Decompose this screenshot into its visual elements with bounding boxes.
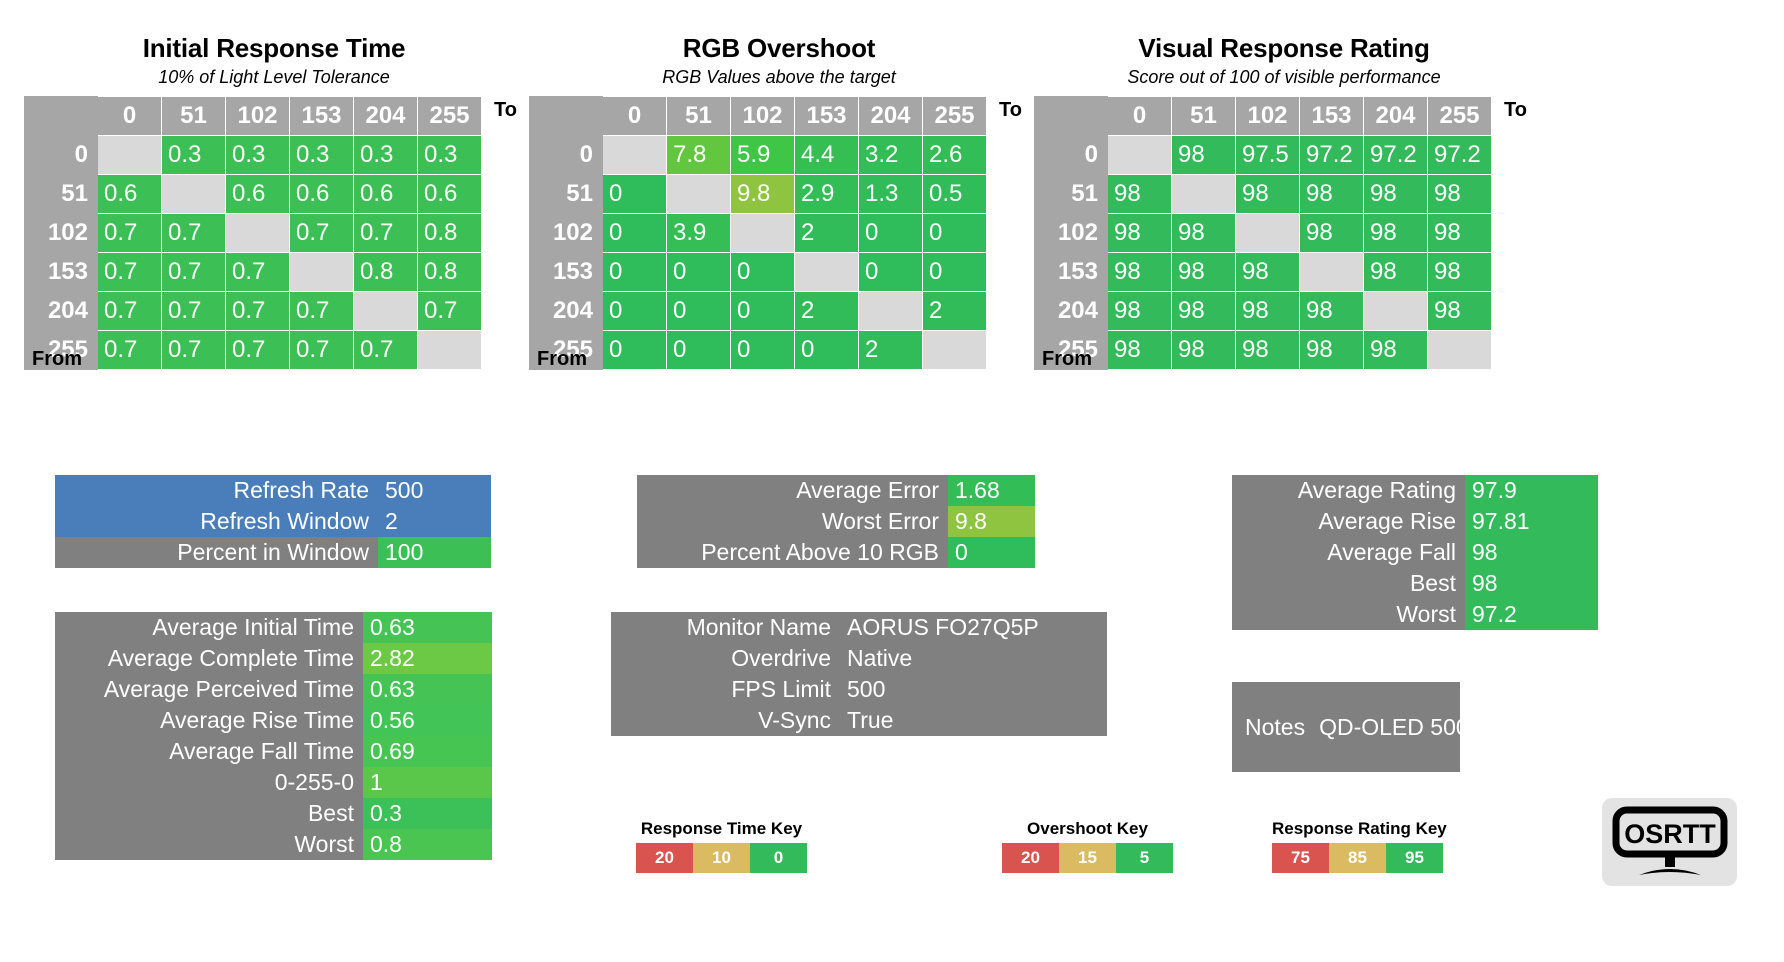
matrix-cell: 98: [1108, 175, 1172, 214]
notes-label: Notes: [1232, 714, 1305, 741]
matrix-cell: 0.7: [226, 253, 290, 292]
stat-label: Average Fall: [1232, 537, 1465, 568]
matrix-cell: 98: [1364, 175, 1428, 214]
matrix-cell: 0.7: [226, 292, 290, 331]
matrix-cell-blank: [667, 175, 731, 214]
stat-label: Worst Error: [637, 506, 948, 537]
stat-label: Average Rise: [1232, 506, 1465, 537]
matrix-col-header: 0: [603, 97, 667, 136]
matrix-cell: 0: [603, 253, 667, 292]
table-row: 1539898989898: [1035, 253, 1492, 292]
to-label-3: To: [1504, 99, 1527, 122]
matrix-col-header: 255: [923, 97, 987, 136]
matrix-cell: 0: [667, 331, 731, 370]
matrix-cell: 0.6: [418, 175, 482, 214]
matrix-cell: 0.3: [418, 136, 482, 175]
chart-subtitle: Score out of 100 of visible performance: [1034, 68, 1534, 88]
matrix-cell: 0.3: [354, 136, 418, 175]
matrix-cell-blank: [795, 253, 859, 292]
matrix-cell: 1.3: [859, 175, 923, 214]
matrix-cell: 0.8: [418, 253, 482, 292]
matrix-cell-blank: [1428, 331, 1492, 370]
matrix-cell: 0.7: [98, 292, 162, 331]
stat-value: 98: [1465, 537, 1598, 568]
chart-title: Visual Response Rating: [1034, 34, 1534, 63]
matrix-cell: 3.2: [859, 136, 923, 175]
matrix-cell-blank: [290, 253, 354, 292]
table-row: 519898989898: [1035, 175, 1492, 214]
matrix-cell: 0.7: [162, 214, 226, 253]
matrix-col-header: 51: [667, 97, 731, 136]
to-label-1: To: [494, 99, 517, 122]
matrix-cell: 98: [1236, 175, 1300, 214]
stat-label: 0-255-0: [55, 767, 363, 798]
stat-row: Best98: [1232, 568, 1598, 599]
matrix-cell: 98: [1300, 331, 1364, 370]
matrix-cell: 98: [1108, 331, 1172, 370]
matrix-row-header: 102: [1035, 214, 1108, 253]
stat-label: Average Error: [637, 475, 948, 506]
key-cell: 5: [1116, 843, 1173, 873]
table-row: 5109.82.91.30.5: [530, 175, 987, 214]
matrix-cell: 0: [859, 253, 923, 292]
matrix-cell: 0: [859, 214, 923, 253]
matrix-cell-blank: [354, 292, 418, 331]
stat-value: 2: [378, 506, 491, 537]
matrix-cell: 0.7: [162, 253, 226, 292]
response-time-key: Response Time Key20100: [636, 819, 807, 873]
stat-label: Percent Above 10 RGB: [637, 537, 948, 568]
matrix-cell: 98: [1236, 292, 1300, 331]
matrix-cell: 98: [1300, 292, 1364, 331]
matrix-cell: 98: [1172, 214, 1236, 253]
matrix-cell: 0.3: [226, 136, 290, 175]
matrix-col-header: 204: [354, 97, 418, 136]
matrix-col-header: 51: [1172, 97, 1236, 136]
stat-value: 98: [1465, 568, 1598, 599]
matrix-cell: 0: [603, 331, 667, 370]
stat-row: Average Rise Time0.56: [55, 705, 492, 736]
matrix-cell: 0.7: [162, 292, 226, 331]
key-bar: 20100: [636, 843, 807, 873]
key-title: Response Rating Key: [1272, 819, 1447, 839]
matrix-corner: [1035, 97, 1108, 136]
matrix-col-header: 102: [731, 97, 795, 136]
matrix-cell-blank: [603, 136, 667, 175]
matrix-cell: 98: [1364, 214, 1428, 253]
matrix-cell: 0.6: [226, 175, 290, 214]
matrix-cell: 0.7: [354, 214, 418, 253]
matrix-col-header: 0: [1108, 97, 1172, 136]
matrix-cell: 97.5: [1236, 136, 1300, 175]
stat-label: Average Complete Time: [55, 643, 363, 674]
matrix-cell: 0: [603, 292, 667, 331]
stat-row: Average Error1.68: [637, 475, 1035, 506]
matrix-cell: 9.8: [731, 175, 795, 214]
stat-row: V-SyncTrue: [611, 705, 1107, 736]
table-row: 25500002: [530, 331, 987, 370]
matrix-row-header: 0: [25, 136, 98, 175]
stat-label: Refresh Rate: [55, 475, 378, 506]
matrix-row-header: 153: [530, 253, 603, 292]
matrix-cell-blank: [1300, 253, 1364, 292]
matrix-cell: 2: [859, 331, 923, 370]
matrix-row-header: 102: [25, 214, 98, 253]
matrix-cell: 0.6: [290, 175, 354, 214]
chart-subtitle: 10% of Light Level Tolerance: [24, 68, 524, 88]
stat-value: 0.63: [363, 612, 492, 643]
stat-label: Percent in Window: [55, 537, 378, 568]
key-cell: 10: [693, 843, 750, 873]
matrix-cell: 0.7: [418, 292, 482, 331]
matrix-cell: 98: [1428, 253, 1492, 292]
stat-row: Average Fall98: [1232, 537, 1598, 568]
matrix-row-header: 204: [25, 292, 98, 331]
refresh-rate-block: Refresh Rate500Refresh Window2Percent in…: [55, 475, 491, 568]
key-bar: 20155: [1002, 843, 1173, 873]
stat-value: 0.8: [363, 829, 492, 860]
table-row: 1020.70.70.70.70.8: [25, 214, 482, 253]
matrix-row-header: 51: [25, 175, 98, 214]
stat-label: Average Initial Time: [55, 612, 363, 643]
matrix-cell: 98: [1428, 175, 1492, 214]
table-row: 1530.70.70.70.80.8: [25, 253, 482, 292]
stat-label: V-Sync: [611, 705, 840, 736]
notes-value: QD-OLED 500 Hz: [1305, 714, 1503, 741]
stat-label: Average Fall Time: [55, 736, 363, 767]
matrix-cell: 2.6: [923, 136, 987, 175]
matrix-cell-blank: [923, 331, 987, 370]
table-row: 2559898989898: [1035, 331, 1492, 370]
table-row: 2040.70.70.70.70.7: [25, 292, 482, 331]
key-cell: 75: [1272, 843, 1329, 873]
stat-row: Average Rating97.9: [1232, 475, 1598, 506]
key-cell: 0: [750, 843, 807, 873]
key-title: Overshoot Key: [1002, 819, 1173, 839]
matrix-cell-blank: [98, 136, 162, 175]
key-cell: 20: [1002, 843, 1059, 873]
matrix-cell-blank: [731, 214, 795, 253]
matrix-cell: 0.6: [354, 175, 418, 214]
overshoot-stats-block: Average Error1.68Worst Error9.8Percent A…: [637, 475, 1035, 568]
matrix-cell: 7.8: [667, 136, 731, 175]
matrix-cell: 98: [1236, 331, 1300, 370]
matrix-table: 05110215320425500.30.30.30.30.3510.60.60…: [24, 96, 482, 370]
matrix-col-header: 153: [1300, 97, 1364, 136]
matrix-cell: 0.7: [98, 331, 162, 370]
stat-row: Average Fall Time0.69: [55, 736, 492, 767]
from-label-2: From: [537, 348, 587, 371]
monitor-info-block: Monitor NameAORUS FO27Q5POverdriveNative…: [611, 612, 1107, 736]
stat-row: Average Rise97.81: [1232, 506, 1598, 537]
matrix-cell: 0: [731, 253, 795, 292]
stat-row: Average Initial Time0.63: [55, 612, 492, 643]
matrix-cell: 0.8: [354, 253, 418, 292]
matrix-col-header: 51: [162, 97, 226, 136]
stat-label: Monitor Name: [611, 612, 840, 643]
stat-label: Average Perceived Time: [55, 674, 363, 705]
chart-panel-rgb-overshoot: RGB Overshoot RGB Values above the targe…: [529, 34, 1029, 87]
matrix-cell: 3.9: [667, 214, 731, 253]
stat-label: FPS Limit: [611, 674, 840, 705]
matrix-cell: 2: [923, 292, 987, 331]
matrix-col-header: 255: [418, 97, 482, 136]
table-row: 2550.70.70.70.70.7: [25, 331, 482, 370]
matrix-table: 05110215320425507.85.94.43.22.65109.82.9…: [529, 96, 987, 370]
matrix-cell: 0: [923, 253, 987, 292]
matrix-col-header: 204: [1364, 97, 1428, 136]
stat-label: Overdrive: [611, 643, 840, 674]
matrix-cell: 0: [667, 292, 731, 331]
table-row: 10203.9200: [530, 214, 987, 253]
matrix-cell: 0: [603, 214, 667, 253]
stat-row: Worst0.8: [55, 829, 492, 860]
from-label-1: From: [32, 348, 82, 371]
matrix-cell: 98: [1108, 292, 1172, 331]
matrix-cell-blank: [859, 292, 923, 331]
chart-panel-initial-response-time: Initial Response Time 10% of Light Level…: [24, 34, 524, 87]
matrix-cell: 98: [1364, 331, 1428, 370]
stat-value: 1: [363, 767, 492, 798]
matrix-col-header: 0: [98, 97, 162, 136]
matrix-row-header: 204: [530, 292, 603, 331]
matrix-cell: 98: [1172, 136, 1236, 175]
matrix-cell: 0: [667, 253, 731, 292]
to-label-2: To: [999, 99, 1022, 122]
stat-value: 2.82: [363, 643, 492, 674]
matrix-cell: 0.5: [923, 175, 987, 214]
matrix-row-header: 0: [530, 136, 603, 175]
stat-row: Percent Above 10 RGB0: [637, 537, 1035, 568]
stat-value: 0.3: [363, 798, 492, 829]
key-cell: 85: [1329, 843, 1386, 873]
stat-value: 0: [948, 537, 1035, 568]
stat-value: 100: [378, 537, 491, 568]
matrix-cell-blank: [1108, 136, 1172, 175]
matrix-cell: 2: [795, 214, 859, 253]
matrix-cell: 0: [731, 292, 795, 331]
matrix-cell: 98: [1364, 253, 1428, 292]
matrix-row-header: 0: [1035, 136, 1108, 175]
stat-row: Worst97.2: [1232, 599, 1598, 630]
matrix-row-header: 153: [25, 253, 98, 292]
table-row: 510.60.60.60.60.6: [25, 175, 482, 214]
stat-value: 97.9: [1465, 475, 1598, 506]
notes-block: Notes QD-OLED 500 Hz: [1232, 682, 1460, 772]
stat-value: 500: [840, 674, 1107, 705]
matrix-cell: 98: [1236, 253, 1300, 292]
matrix-cell: 98: [1300, 214, 1364, 253]
table-row: 20400022: [530, 292, 987, 331]
matrix-col-header: 102: [226, 97, 290, 136]
matrix-cell-blank: [1172, 175, 1236, 214]
stat-label: Best: [1232, 568, 1465, 599]
osrtt-monitor-icon: OSRTT: [1611, 805, 1729, 879]
matrix-cell: 0.6: [98, 175, 162, 214]
table-row: 1029898989898: [1035, 214, 1492, 253]
table-row: 15300000: [530, 253, 987, 292]
stat-row: Refresh Rate500: [55, 475, 491, 506]
matrix-initial-response-time: 05110215320425500.30.30.30.30.3510.60.60…: [24, 96, 482, 370]
stat-row: Refresh Window2: [55, 506, 491, 537]
matrix-cell: 98: [1172, 253, 1236, 292]
matrix-cell: 98: [1428, 292, 1492, 331]
stat-label: Best: [55, 798, 363, 829]
stat-row: 0-255-01: [55, 767, 492, 798]
matrix-cell-blank: [418, 331, 482, 370]
matrix-row-header: 51: [530, 175, 603, 214]
key-cell: 15: [1059, 843, 1116, 873]
matrix-cell: 97.2: [1428, 136, 1492, 175]
matrix-cell: 2.9: [795, 175, 859, 214]
matrix-cell: 98: [1108, 253, 1172, 292]
matrix-cell: 0.7: [226, 331, 290, 370]
matrix-cell: 0.7: [354, 331, 418, 370]
stat-label: Worst: [55, 829, 363, 860]
key-bar: 758595: [1272, 843, 1447, 873]
matrix-cell-blank: [226, 214, 290, 253]
rating-stats-block: Average Rating97.9Average Rise97.81Avera…: [1232, 475, 1598, 630]
matrix-cell: 98: [1428, 214, 1492, 253]
matrix-cell: 2: [795, 292, 859, 331]
svg-text:OSRTT: OSRTT: [1624, 819, 1716, 849]
stat-row: Percent in Window100: [55, 537, 491, 568]
stat-value: 9.8: [948, 506, 1035, 537]
table-row: 00.30.30.30.30.3: [25, 136, 482, 175]
matrix-corner: [530, 97, 603, 136]
matrix-cell: 0.7: [290, 214, 354, 253]
stat-label: Refresh Window: [55, 506, 378, 537]
osrtt-logo: OSRTT: [1602, 798, 1737, 886]
matrix-col-header: 102: [1236, 97, 1300, 136]
matrix-cell: 0.8: [418, 214, 482, 253]
matrix-row-header: 51: [1035, 175, 1108, 214]
matrix-row-header: 153: [1035, 253, 1108, 292]
matrix-table: 05110215320425509897.597.297.297.2519898…: [1034, 96, 1492, 370]
matrix-row-header: 102: [530, 214, 603, 253]
matrix-cell-blank: [1236, 214, 1300, 253]
matrix-cell: 98: [1300, 175, 1364, 214]
matrix-cell: 0.7: [290, 292, 354, 331]
table-row: 2049898989898: [1035, 292, 1492, 331]
matrix-cell: 0: [923, 214, 987, 253]
chart-title: Initial Response Time: [24, 34, 524, 63]
matrix-col-header: 153: [795, 97, 859, 136]
matrix-cell: 4.4: [795, 136, 859, 175]
matrix-visual-response-rating: 05110215320425509897.597.297.297.2519898…: [1034, 96, 1492, 370]
matrix-cell: 0.7: [290, 331, 354, 370]
matrix-cell: 98: [1108, 214, 1172, 253]
matrix-cell: 0: [795, 331, 859, 370]
chart-panel-visual-response-rating: Visual Response Rating Score out of 100 …: [1034, 34, 1534, 87]
matrix-col-header: 204: [859, 97, 923, 136]
stat-value: 97.81: [1465, 506, 1598, 537]
stat-value: 0.69: [363, 736, 492, 767]
stat-value: Native: [840, 643, 1107, 674]
stat-row: Monitor NameAORUS FO27Q5P: [611, 612, 1107, 643]
matrix-row-header: 204: [1035, 292, 1108, 331]
stat-row: Best0.3: [55, 798, 492, 829]
matrix-cell: 0.3: [162, 136, 226, 175]
stat-label: Average Rise Time: [55, 705, 363, 736]
stat-label: Worst: [1232, 599, 1465, 630]
table-row: 09897.597.297.297.2: [1035, 136, 1492, 175]
matrix-cell: 97.2: [1364, 136, 1428, 175]
matrix-cell: 5.9: [731, 136, 795, 175]
key-cell: 95: [1386, 843, 1443, 873]
matrix-cell: 98: [1172, 292, 1236, 331]
stat-value: 0.63: [363, 674, 492, 705]
matrix-cell: 0: [731, 331, 795, 370]
key-cell: 20: [636, 843, 693, 873]
stat-value: 1.68: [948, 475, 1035, 506]
table-row: 07.85.94.43.22.6: [530, 136, 987, 175]
stat-row: Worst Error9.8: [637, 506, 1035, 537]
matrix-cell: 97.2: [1300, 136, 1364, 175]
matrix-rgb-overshoot: 05110215320425507.85.94.43.22.65109.82.9…: [529, 96, 987, 370]
response-rating-key: Response Rating Key758595: [1272, 819, 1447, 873]
from-label-3: From: [1042, 348, 1092, 371]
stat-row: Average Perceived Time0.63: [55, 674, 492, 705]
stat-value: 500: [378, 475, 491, 506]
overshoot-key: Overshoot Key20155: [1002, 819, 1173, 873]
chart-subtitle: RGB Values above the target: [529, 68, 1029, 88]
matrix-cell: 0.7: [98, 214, 162, 253]
matrix-col-header: 255: [1428, 97, 1492, 136]
matrix-cell: 0.7: [162, 331, 226, 370]
chart-title: RGB Overshoot: [529, 34, 1029, 63]
stat-value: True: [840, 705, 1107, 736]
matrix-cell: 0.7: [98, 253, 162, 292]
stat-row: FPS Limit500: [611, 674, 1107, 705]
matrix-cell-blank: [162, 175, 226, 214]
matrix-cell: 0.3: [290, 136, 354, 175]
key-title: Response Time Key: [636, 819, 807, 839]
matrix-cell: 98: [1172, 331, 1236, 370]
matrix-col-header: 153: [290, 97, 354, 136]
matrix-cell-blank: [1364, 292, 1428, 331]
matrix-cell: 0: [603, 175, 667, 214]
stat-value: AORUS FO27Q5P: [840, 612, 1107, 643]
response-time-stats-block: Average Initial Time0.63Average Complete…: [55, 612, 492, 860]
stat-value: 97.2: [1465, 599, 1598, 630]
stat-row: OverdriveNative: [611, 643, 1107, 674]
matrix-corner: [25, 97, 98, 136]
stat-value: 0.56: [363, 705, 492, 736]
stat-row: Average Complete Time2.82: [55, 643, 492, 674]
stat-label: Average Rating: [1232, 475, 1465, 506]
